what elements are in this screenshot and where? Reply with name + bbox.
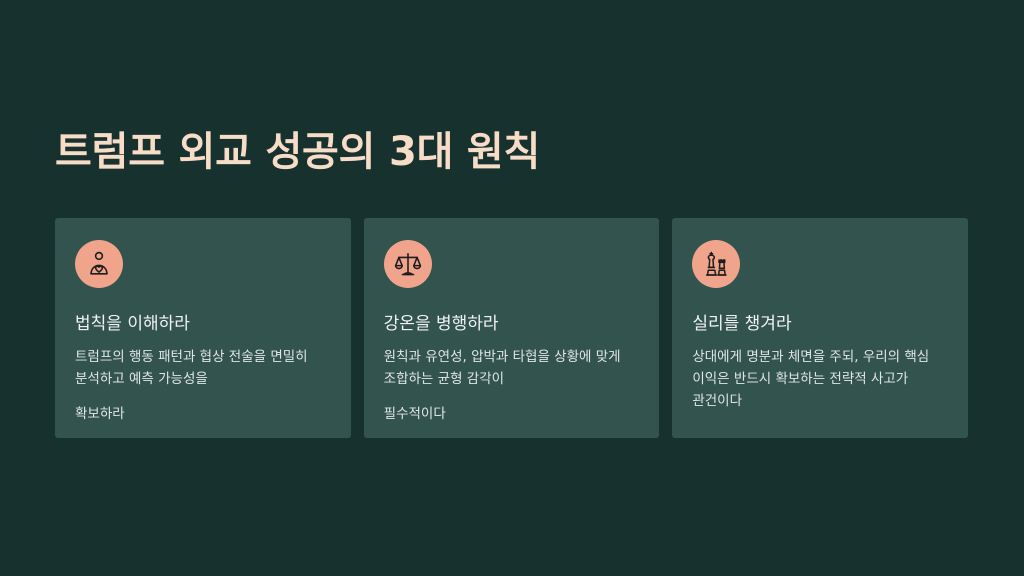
principle-card[interactable]: 강온을 병행하라 원칙과 유연성, 압박과 타협을 상황에 맞게 조합하는 균형… <box>364 218 660 438</box>
person-heart-icon <box>75 240 123 288</box>
card-heading: 강온을 병행하라 <box>384 313 640 335</box>
balance-scales-icon <box>384 240 432 288</box>
slide-root: 트럼프 외교 성공의 3대 원칙 법칙을 이해하라 트럼프의 행동 패턴과 협상… <box>0 0 1024 576</box>
principle-card[interactable]: 법칙을 이해하라 트럼프의 행동 패턴과 협상 전술을 면밀히 분석하고 예측 … <box>55 218 351 438</box>
card-body: 원칙과 유연성, 압박과 타협을 상황에 맞게 조합하는 균형 감각이 <box>384 347 640 391</box>
principle-card[interactable]: 실리를 챙겨라 상대에게 명분과 체면을 주되, 우리의 핵심 이익은 반드시 … <box>672 218 968 438</box>
card-body-tail: 필수적이다 <box>384 404 640 426</box>
card-body: 상대에게 명분과 체면을 주되, 우리의 핵심 이익은 반드시 확보하는 전략적… <box>692 347 948 413</box>
card-body-tail: 확보하라 <box>75 404 331 426</box>
chess-pieces-icon <box>692 240 740 288</box>
card-heading: 실리를 챙겨라 <box>692 313 948 335</box>
page-title: 트럼프 외교 성공의 3대 원칙 <box>55 127 540 177</box>
principle-card-list: 법칙을 이해하라 트럼프의 행동 패턴과 협상 전술을 면밀히 분석하고 예측 … <box>55 218 968 438</box>
card-body: 트럼프의 행동 패턴과 협상 전술을 면밀히 분석하고 예측 가능성을 <box>75 347 331 391</box>
card-heading: 법칙을 이해하라 <box>75 313 331 335</box>
